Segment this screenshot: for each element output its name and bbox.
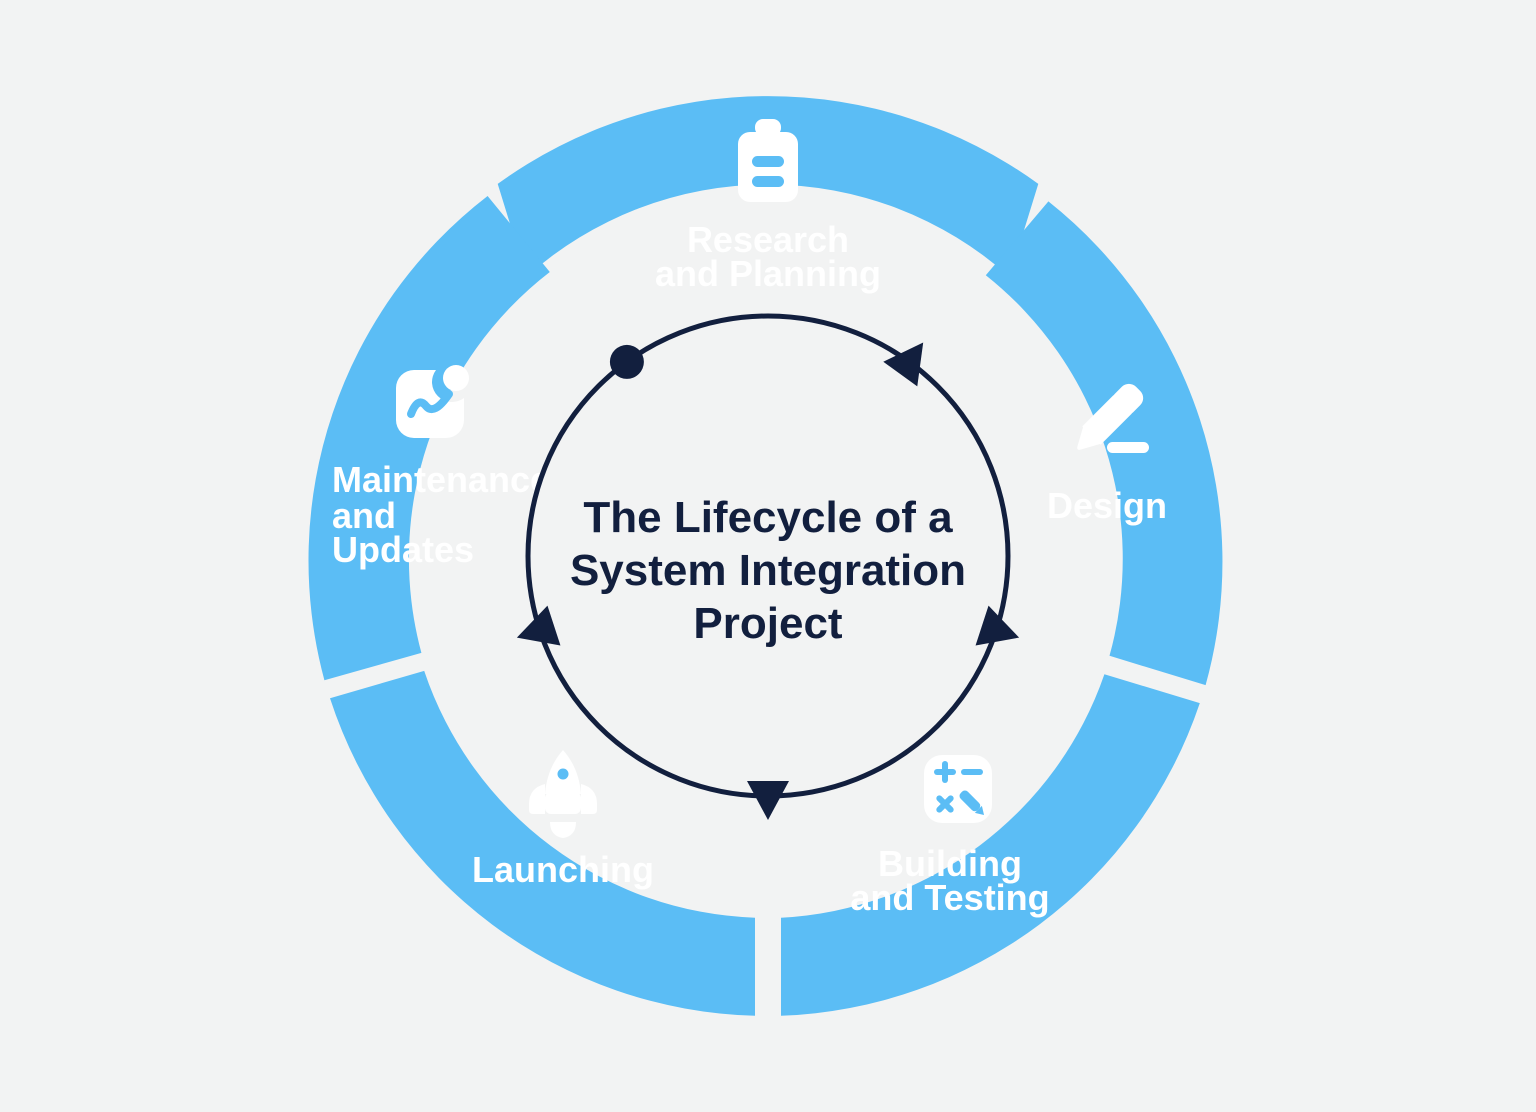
segment-research-and-planning-label-line-2: and Planning [655,253,881,294]
activity-card-icon [396,365,469,438]
segment-building-and-testing-label-line-2: and Testing [850,877,1049,918]
cycle-diagram: Research and Planning Design Building an… [0,0,1536,1112]
clipboard-icon [738,119,798,202]
center-title-line-2: System Integration [570,546,966,595]
center-title-line-3: Project [693,599,843,648]
calculator-icon [924,755,992,823]
segment-maintenance-and-updates-label-line-1: Maintenance [332,459,550,500]
center-title-line-1: The Lifecycle of a [583,493,953,542]
segment-launching-label: Launching [472,849,654,890]
cycle-diagram-canvas: Research and Planning Design Building an… [0,0,1536,1112]
segment-maintenance-and-updates-label-line-3: Updates [332,529,474,570]
cycle-start-dot [610,345,644,379]
segment-design-label: Design [1047,485,1167,526]
